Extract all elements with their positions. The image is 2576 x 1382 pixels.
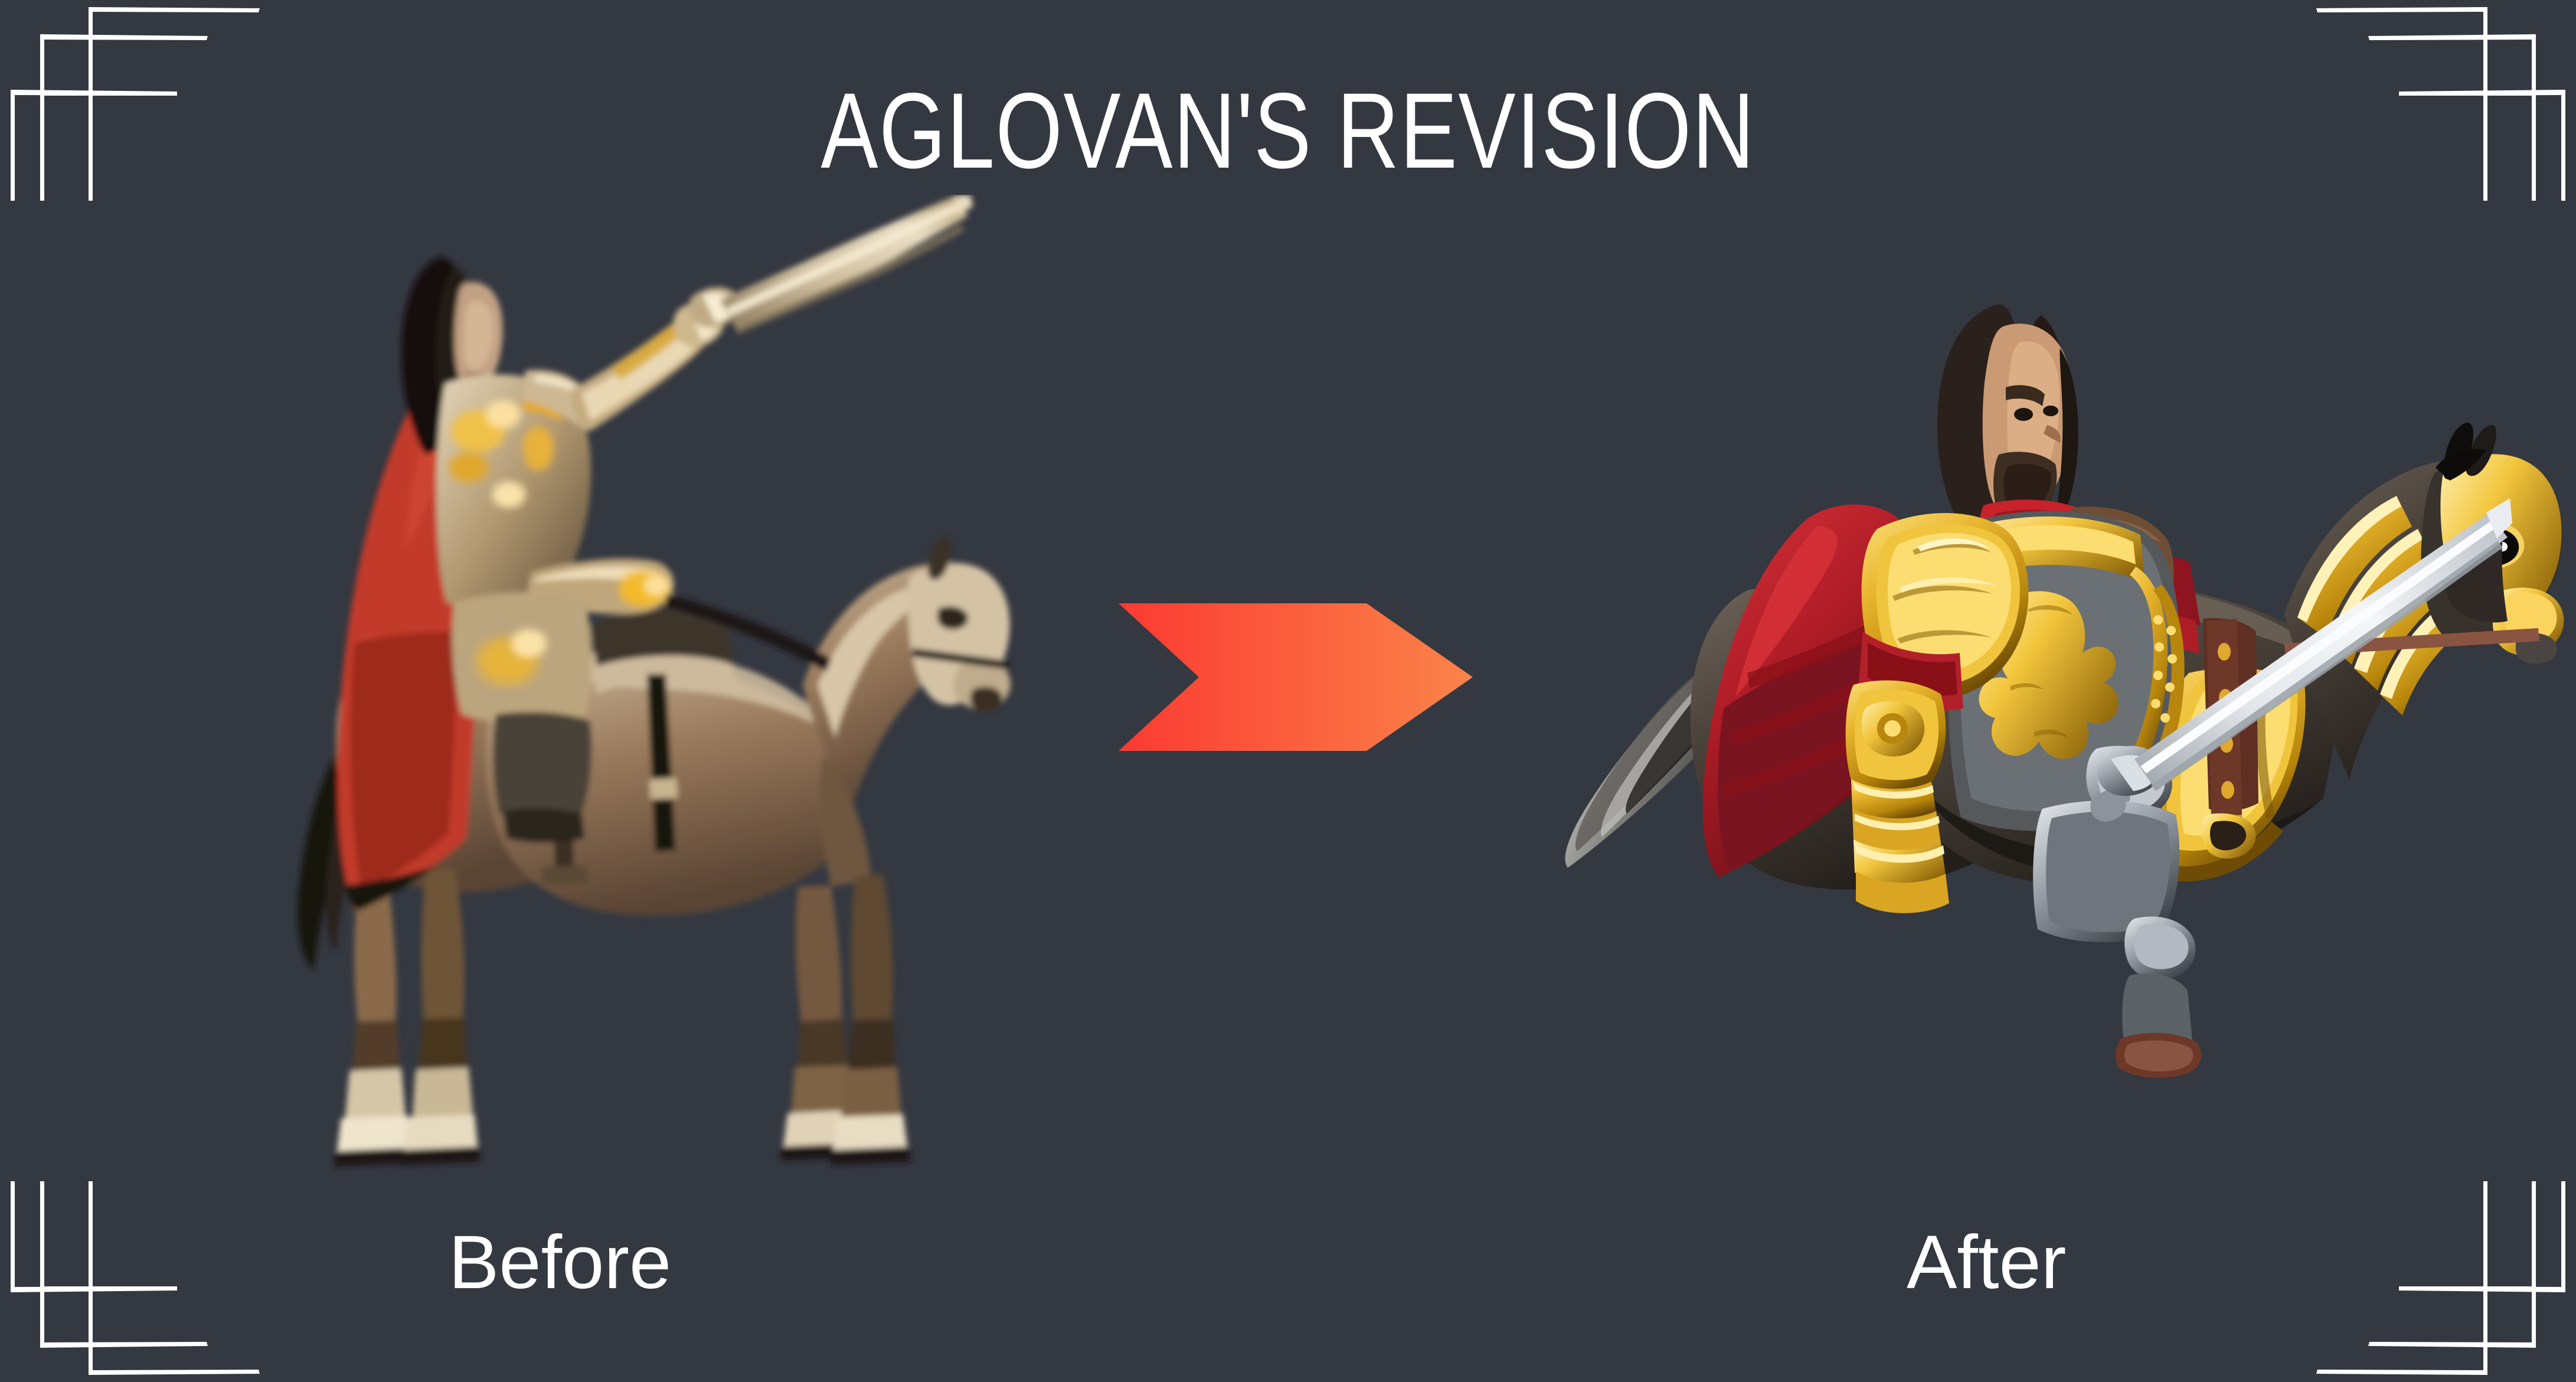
corner-frame-bottom-left [0,1181,307,1382]
after-label: After [1907,1225,2066,1301]
chevron-arrow-right-icon [1119,603,1473,751]
corner-frame-bottom-right [2269,1181,2576,1382]
after-artwork-knight-on-horseback [1499,260,2568,1198]
before-artwork-knight-on-horseback [177,195,1015,1198]
before-label: Before [449,1225,671,1301]
page-title: AGLOVAN'S REVISION [257,77,2318,184]
transition-arrow [1119,603,1473,751]
slide-canvas: AGLOVAN'S REVISION [0,0,2576,1382]
